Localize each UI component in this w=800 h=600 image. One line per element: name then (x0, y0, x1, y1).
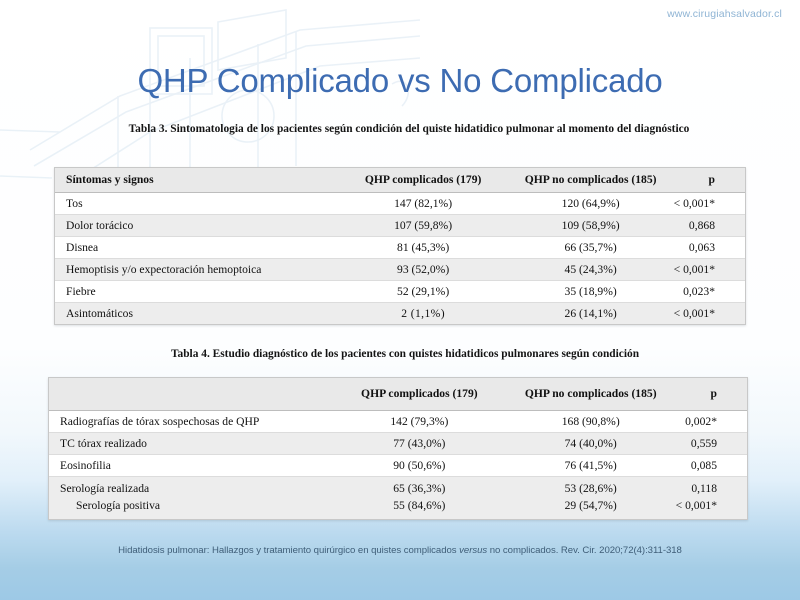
table-4-header-blank (49, 378, 333, 411)
serology-pvalue-cell: 0,118 < 0,001* (676, 477, 747, 519)
row-label: Asintomáticos (55, 303, 339, 325)
citation-part-1: Hidatidosis pulmonar: Hallazgos y tratam… (118, 545, 459, 556)
row-complicated: 142 (79,3%) (333, 411, 506, 433)
row-pvalue: 0,002* (676, 411, 747, 433)
serology-pvalue-main: 0,118 (676, 481, 717, 498)
table-4-header-uncomplicated: QHP no complicados (185) (506, 378, 676, 411)
serology-label-main: Serología realizada (60, 481, 333, 498)
row-uncomplicated: 120 (64,9%) (508, 193, 674, 215)
table-row: TC tórax realizado 77 (43,0%) 74 (40,0%)… (49, 433, 747, 455)
row-pvalue: 0,559 (676, 433, 747, 455)
table-3-header-symptoms: Síntomas y signos (55, 168, 339, 193)
serology-uncomplicated-main: 53 (28,6%) (506, 481, 676, 498)
serology-label-sub: Serología positiva (60, 498, 333, 515)
row-complicated: 107 (59,8%) (339, 215, 508, 237)
row-label: Disnea (55, 237, 339, 259)
citation-part-2: no complicados. Rev. Cir. 2020;72(4):311… (487, 545, 682, 556)
serology-complicated-cell: 65 (36,3%) 55 (84,6%) (333, 477, 506, 519)
row-complicated: 77 (43,0%) (333, 433, 506, 455)
table-3-header-p: p (674, 168, 745, 193)
row-pvalue: 0,023* (674, 281, 745, 303)
table-4-header-p: p (676, 378, 747, 411)
row-pvalue: < 0,001* (674, 259, 745, 281)
table-3: Síntomas y signos QHP complicados (179) … (55, 168, 745, 324)
row-uncomplicated: 74 (40,0%) (506, 433, 676, 455)
citation-versus: versus (459, 545, 487, 556)
table-4-header-row: QHP complicados (179) QHP no complicados… (49, 378, 747, 411)
row-pvalue: 0,085 (676, 455, 747, 477)
table-row: Asintomáticos 2 (1,1%) 26 (14,1%) < 0,00… (55, 303, 745, 325)
row-label: Radiografías de tórax sospechosas de QHP (49, 411, 333, 433)
row-uncomplicated: 109 (58,9%) (508, 215, 674, 237)
serology-uncomplicated-sub: 29 (54,7%) (506, 498, 676, 515)
serology-complicated-main: 65 (36,3%) (333, 481, 506, 498)
serology-uncomplicated-cell: 53 (28,6%) 29 (54,7%) (506, 477, 676, 519)
row-label: Tos (55, 193, 339, 215)
row-pvalue: 0,868 (674, 215, 745, 237)
row-uncomplicated: 26 (14,1%) (508, 303, 674, 325)
row-pvalue: < 0,001* (674, 193, 745, 215)
row-complicated: 147 (82,1%) (339, 193, 508, 215)
row-label: Dolor torácico (55, 215, 339, 237)
row-uncomplicated: 35 (18,9%) (508, 281, 674, 303)
row-complicated: 90 (50,6%) (333, 455, 506, 477)
row-label: Fiebre (55, 281, 339, 303)
slide-title: QHP Complicado vs No Complicado (0, 62, 800, 100)
table-4-container: QHP complicados (179) QHP no complicados… (48, 377, 748, 520)
table-row: Tos 147 (82,1%) 120 (64,9%) < 0,001* (55, 193, 745, 215)
table-3-container: Síntomas y signos QHP complicados (179) … (54, 167, 746, 325)
row-label: TC tórax realizado (49, 433, 333, 455)
table-row-serology-group: Serología realizada Serología positiva 6… (49, 477, 747, 519)
table-row: Hemoptisis y/o expectoración hemoptoica … (55, 259, 745, 281)
table-3-header-uncomplicated: QHP no complicados (185) (508, 168, 674, 193)
row-complicated: 2 (1,1%) (339, 303, 508, 325)
row-pvalue: 0,063 (674, 237, 745, 259)
table-row: Fiebre 52 (29,1%) 35 (18,9%) 0,023* (55, 281, 745, 303)
row-uncomplicated: 66 (35,7%) (508, 237, 674, 259)
serology-pvalue-sub: < 0,001* (676, 498, 717, 515)
table-3-caption: Tabla 3. Sintomatologia de los pacientes… (68, 122, 750, 136)
table-row: Eosinofilia 90 (50,6%) 76 (41,5%) 0,085 (49, 455, 747, 477)
table-row: Radiografías de tórax sospechosas de QHP… (49, 411, 747, 433)
table-4: QHP complicados (179) QHP no complicados… (49, 378, 747, 519)
table-4-caption: Tabla 4. Estudio diagnóstico de los paci… (60, 347, 750, 361)
serology-complicated-sub: 55 (84,6%) (333, 498, 506, 515)
site-url-watermark: www.cirugiahsalvador.cl (667, 8, 782, 20)
row-pvalue: < 0,001* (674, 303, 745, 325)
footer-citation: Hidatidosis pulmonar: Hallazgos y tratam… (0, 545, 800, 556)
table-3-header-row: Síntomas y signos QHP complicados (179) … (55, 168, 745, 193)
row-label: Eosinofilia (49, 455, 333, 477)
row-uncomplicated: 168 (90,8%) (506, 411, 676, 433)
row-label: Hemoptisis y/o expectoración hemoptoica (55, 259, 339, 281)
row-complicated: 81 (45,3%) (339, 237, 508, 259)
serology-label-cell: Serología realizada Serología positiva (49, 477, 333, 519)
table-3-header-complicated: QHP complicados (179) (339, 168, 508, 193)
row-uncomplicated: 76 (41,5%) (506, 455, 676, 477)
table-row: Dolor torácico 107 (59,8%) 109 (58,9%) 0… (55, 215, 745, 237)
row-complicated: 93 (52,0%) (339, 259, 508, 281)
table-4-header-complicated: QHP complicados (179) (333, 378, 506, 411)
row-complicated: 52 (29,1%) (339, 281, 508, 303)
table-row: Disnea 81 (45,3%) 66 (35,7%) 0,063 (55, 237, 745, 259)
row-uncomplicated: 45 (24,3%) (508, 259, 674, 281)
